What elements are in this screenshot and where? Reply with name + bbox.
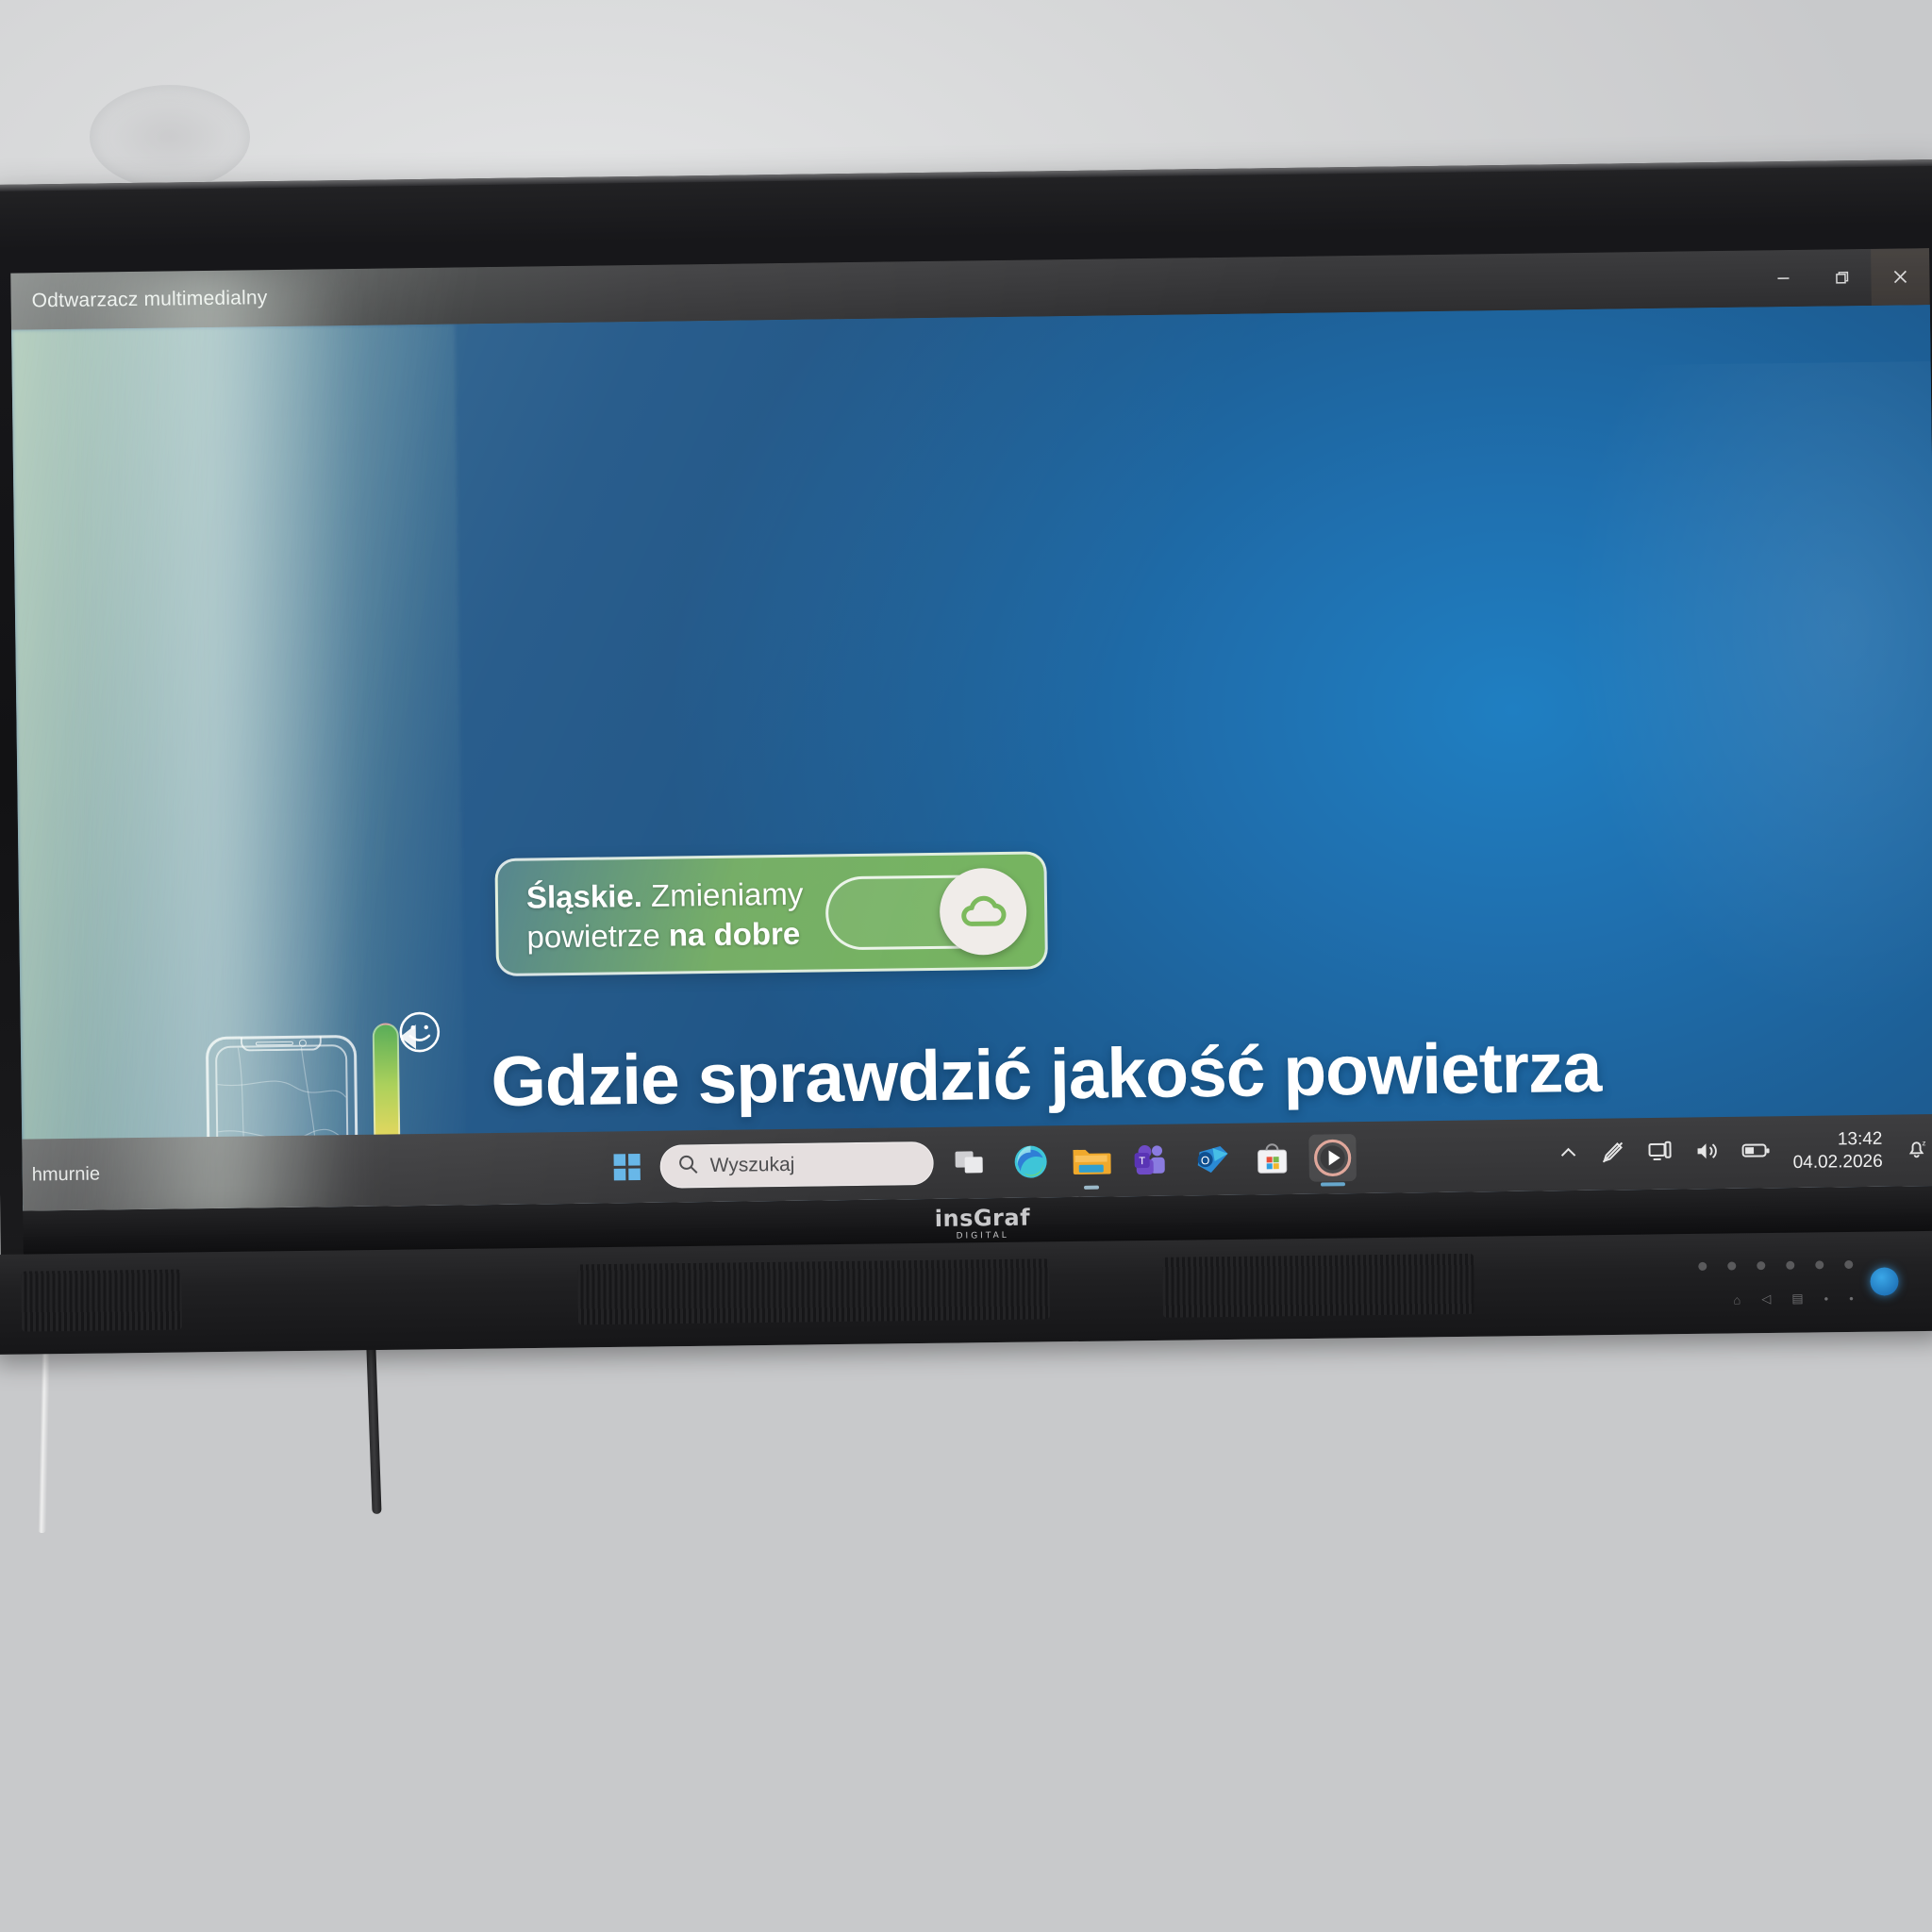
media-player-icon[interactable] (1308, 1134, 1357, 1182)
svg-text:O: O (1201, 1154, 1210, 1167)
smiley-face-icon (397, 1010, 441, 1059)
soundbar-dot (1844, 1260, 1853, 1269)
search-placeholder: Wyszukaj (710, 1154, 795, 1177)
teams-icon[interactable]: T (1127, 1137, 1175, 1185)
soundbar-button-row[interactable] (1698, 1260, 1853, 1271)
taskbar-center-group: Wyszukaj (607, 1134, 1357, 1191)
svg-text:T: T (1139, 1156, 1145, 1167)
wall-smudge (90, 85, 250, 189)
campaign-logo-line1-rest: Zmieniamy (642, 876, 804, 913)
device-brand-name: insGraf (935, 1205, 1031, 1232)
svg-text:z: z (1922, 1139, 1925, 1147)
speaker-grill-center (577, 1258, 1050, 1324)
power-led-icon[interactable] (1870, 1267, 1898, 1295)
soundbar-dot (1757, 1261, 1765, 1270)
taskbar-weather-text[interactable]: hmurnie (32, 1163, 101, 1186)
restore-button[interactable] (1812, 249, 1872, 307)
soundbar-dot (1786, 1261, 1794, 1270)
window-controls (1754, 248, 1930, 307)
interactive-display: Odtwarzacz multimedialny (0, 159, 1932, 1260)
app-running-indicator (1084, 1186, 1099, 1190)
outlook-icon[interactable]: O (1188, 1136, 1236, 1184)
campaign-logo-line1-bold: Śląskie. (526, 878, 642, 915)
minimize-button[interactable] (1754, 250, 1813, 308)
campaign-logo: Śląskie. Zmieniamy powietrze na dobre (494, 851, 1048, 976)
window-title: Odtwarzacz multimedialny (31, 287, 267, 312)
tv-screen: Odtwarzacz multimedialny (10, 248, 1932, 1211)
earpiece-speaker (256, 1041, 293, 1045)
pen-disabled-icon[interactable] (1600, 1140, 1624, 1169)
room-background: Odtwarzacz multimedialny (0, 0, 1932, 1932)
battery-icon[interactable] (1741, 1141, 1770, 1163)
system-tray: 13:42 04.02.2026 z (1558, 1127, 1928, 1177)
campaign-logo-line2-bold: na dobre (669, 915, 801, 952)
soundbar-home-icon[interactable]: ⌂ (1733, 1292, 1740, 1307)
speaker-grill-left (21, 1270, 182, 1332)
campaign-logo-line2-rest: powietrze (526, 917, 669, 954)
smartphone-notch (241, 1036, 322, 1051)
soundbar-dot-icon[interactable]: • (1849, 1291, 1854, 1305)
clock-date: 04.02.2026 (1792, 1151, 1882, 1174)
device-brand-sub: DIGITAL (935, 1231, 1030, 1241)
soundbar-dot (1727, 1261, 1736, 1270)
app-active-indicator (1321, 1182, 1345, 1186)
taskbar-clock[interactable]: 13:42 04.02.2026 (1792, 1128, 1883, 1174)
edge-icon[interactable] (1007, 1138, 1055, 1186)
close-button[interactable] (1871, 248, 1930, 306)
soundbar-dot (1815, 1260, 1824, 1269)
soundbar-back-icon[interactable]: ◁ (1761, 1291, 1771, 1307)
show-hidden-icons-icon[interactable] (1558, 1146, 1577, 1164)
toggle-switch-graphic (825, 874, 1024, 950)
speaker-grill-right (1162, 1254, 1474, 1318)
campaign-logo-text: Śląskie. Zmieniamy powietrze na dobre (526, 874, 805, 957)
front-camera-icon (299, 1039, 307, 1046)
headline-line-1: Gdzie sprawdzić jakość powietrza (491, 1024, 1718, 1124)
network-icon[interactable] (1647, 1140, 1672, 1167)
video-surface[interactable]: Śląskie. Zmieniamy powietrze na dobre (11, 305, 1932, 1211)
clock-time: 13:42 (1792, 1128, 1882, 1152)
search-icon (678, 1154, 699, 1179)
media-player-window: Odtwarzacz multimedialny (10, 248, 1932, 1211)
task-view-icon[interactable] (946, 1139, 994, 1187)
soundbar-key-labels[interactable]: ⌂ ◁ ▤ • • (1733, 1291, 1853, 1307)
search-input[interactable]: Wyszukaj (659, 1141, 934, 1189)
soundbar-dot (1698, 1262, 1707, 1271)
volume-icon[interactable] (1694, 1141, 1719, 1166)
file-explorer-icon[interactable] (1067, 1137, 1115, 1185)
device-brand: insGraf DIGITAL (935, 1205, 1031, 1241)
soundbar-menu-icon[interactable]: ▤ (1791, 1291, 1803, 1307)
store-icon[interactable] (1248, 1135, 1296, 1183)
notification-bell-icon[interactable]: z (1905, 1137, 1927, 1164)
soundbar-dot-icon[interactable]: • (1824, 1291, 1828, 1306)
start-icon[interactable] (607, 1147, 647, 1188)
cloud-icon (940, 867, 1027, 955)
